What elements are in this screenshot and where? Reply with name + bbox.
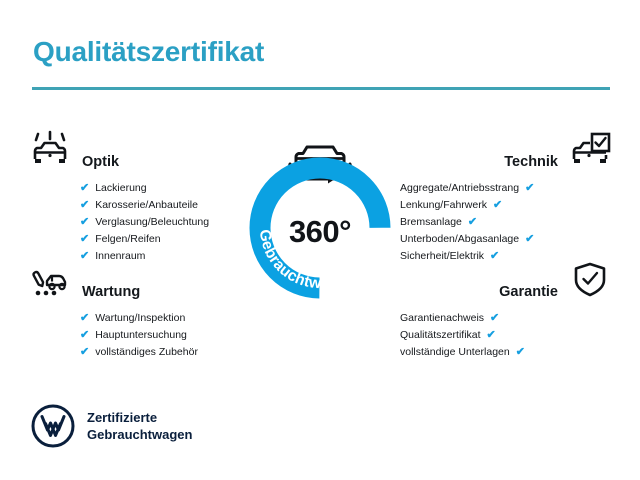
- list-item-label: Bremsanlage: [400, 214, 462, 231]
- footer-line-1: Zertifizierte: [87, 410, 157, 425]
- checklist-optik: ✔Lackierung ✔Karosserie/Anbauteile ✔Verg…: [28, 180, 240, 265]
- list-item-label: Garantienachweis: [400, 310, 484, 327]
- check-icon: ✔: [80, 347, 89, 358]
- check-icon: ✔: [490, 313, 499, 324]
- checklist-technik: ✔Aggregate/Antriebsstrang ✔Lenkung/Fahrw…: [400, 180, 612, 265]
- list-item: ✔Aggregate/Antriebsstrang: [400, 180, 612, 197]
- check-icon: ✔: [468, 217, 477, 228]
- section-header-garantie: Garantie: [400, 257, 612, 301]
- list-item: ✔Hauptuntersuchung: [28, 327, 240, 344]
- section-garantie: Garantie ✔Garantienachweis ✔Qualitätszer…: [400, 257, 612, 361]
- check-icon: ✔: [80, 234, 89, 245]
- section-header-technik: Technik: [400, 127, 612, 171]
- badge-degrees-label: 360°: [238, 214, 402, 250]
- section-title-garantie: Garantie: [499, 284, 558, 303]
- title-divider: [32, 87, 610, 90]
- list-item: ✔Felgen/Reifen: [28, 231, 240, 248]
- badge-360-gebrauchtwagen-check: Gebrauchtwagen-Check 360°: [238, 128, 402, 308]
- check-icon: ✔: [80, 217, 89, 228]
- section-header-wartung: Wartung: [28, 257, 240, 301]
- car-service-tool-icon: [28, 259, 72, 301]
- section-title-technik: Technik: [504, 154, 558, 173]
- volkswagen-certified-footer: Zertifizierte Gebrauchtwagen: [31, 404, 192, 448]
- list-item-label: vollständige Unterlagen: [400, 344, 510, 361]
- list-item-label: Wartung/Inspektion: [95, 310, 185, 327]
- list-item-label: Felgen/Reifen: [95, 231, 160, 248]
- list-item-label: Lenkung/Fahrwerk: [400, 197, 487, 214]
- section-title-optik: Optik: [82, 154, 119, 173]
- section-title-wartung: Wartung: [82, 284, 140, 303]
- checklist-wartung: ✔Wartung/Inspektion ✔Hauptuntersuchung ✔…: [28, 310, 240, 361]
- list-item-label: vollständiges Zubehör: [95, 344, 198, 361]
- check-icon: ✔: [493, 200, 502, 211]
- list-item: ✔vollständige Unterlagen: [400, 344, 612, 361]
- list-item-label: Lackierung: [95, 180, 146, 197]
- list-item-label: Verglasung/Beleuchtung: [95, 214, 209, 231]
- check-icon: ✔: [80, 330, 89, 341]
- list-item: ✔Lackierung: [28, 180, 240, 197]
- list-item-label: Hauptuntersuchung: [95, 327, 187, 344]
- check-icon: ✔: [80, 313, 89, 324]
- list-item-label: Unterboden/Abgasanlage: [400, 231, 519, 248]
- section-wartung: Wartung ✔Wartung/Inspektion ✔Hauptunters…: [28, 257, 240, 361]
- list-item: ✔Lenkung/Fahrwerk: [400, 197, 612, 214]
- volkswagen-certified-text: Zertifizierte Gebrauchtwagen: [87, 409, 192, 443]
- check-icon: ✔: [525, 234, 534, 245]
- list-item: ✔Qualitätszertifikat: [400, 327, 612, 344]
- check-icon: ✔: [487, 330, 496, 341]
- check-icon: ✔: [516, 347, 525, 358]
- section-optik: Optik ✔Lackierung ✔Karosserie/Anbauteile…: [28, 127, 240, 265]
- footer-line-2: Gebrauchtwagen: [87, 427, 192, 442]
- shield-check-icon: [568, 259, 612, 301]
- page-title: Qualitätszertifikat: [33, 36, 264, 68]
- check-icon: ✔: [80, 183, 89, 194]
- car-shine-icon: [28, 129, 72, 171]
- list-item: ✔Verglasung/Beleuchtung: [28, 214, 240, 231]
- list-item: ✔Wartung/Inspektion: [28, 310, 240, 327]
- car-checkbox-icon: [568, 129, 612, 171]
- section-technik: Technik ✔Aggregate/Antriebsstrang ✔Lenku…: [400, 127, 612, 265]
- list-item: ✔Garantienachweis: [400, 310, 612, 327]
- check-icon: ✔: [525, 183, 534, 194]
- list-item-label: Qualitätszertifikat: [400, 327, 481, 344]
- list-item: ✔Bremsanlage: [400, 214, 612, 231]
- list-item: ✔Unterboden/Abgasanlage: [400, 231, 612, 248]
- list-item-label: Aggregate/Antriebsstrang: [400, 180, 519, 197]
- section-header-optik: Optik: [28, 127, 240, 171]
- volkswagen-logo: [31, 404, 75, 448]
- checklist-garantie: ✔Garantienachweis ✔Qualitätszertifikat ✔…: [400, 310, 612, 361]
- list-item: ✔Karosserie/Anbauteile: [28, 197, 240, 214]
- list-item: ✔vollständiges Zubehör: [28, 344, 240, 361]
- list-item-label: Karosserie/Anbauteile: [95, 197, 198, 214]
- check-icon: ✔: [80, 200, 89, 211]
